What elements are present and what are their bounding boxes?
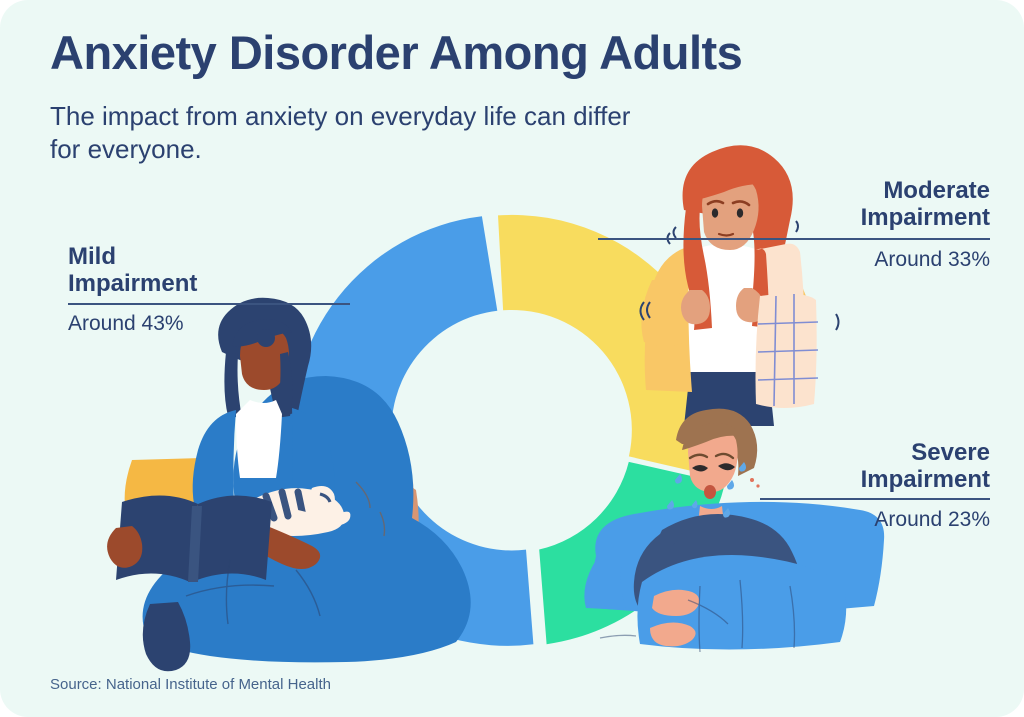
illustration-severe-man-in-bed xyxy=(0,0,1024,717)
leader-line-mild xyxy=(68,303,350,305)
infographic-canvas: Anxiety Disorder Among Adults The impact… xyxy=(0,0,1024,717)
leader-line-severe xyxy=(760,498,990,500)
leader-line-moderate xyxy=(598,238,990,240)
